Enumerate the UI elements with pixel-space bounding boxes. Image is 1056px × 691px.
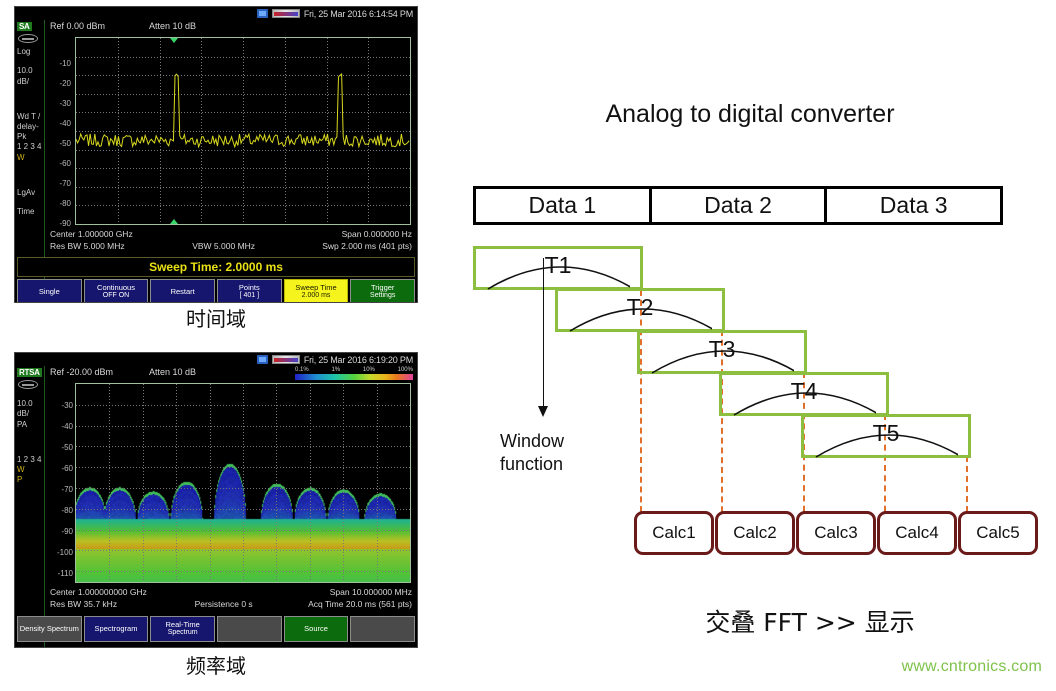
side-rail-freq: RTSA 10.0 dB/ PA 1 2 3 4 W P [15, 366, 45, 647]
sweep-readout: Swp 2.000 ms (401 pts) [322, 241, 412, 251]
y-axis-time: -10 -20 -30 -40 -50 -60 -70 -80 -90 [49, 35, 73, 225]
data-block: Data 1 [476, 189, 652, 222]
data-block: Data 2 [652, 189, 828, 222]
spectrum-analyzer-frequency-domain: Fri, 25 Mar 2016 6:19:20 PM RTSA 10.0 dB… [14, 352, 418, 648]
window-label-t4: T4 [791, 378, 818, 405]
softkey-label: Density Spectrum [20, 624, 79, 633]
rail-scale-value: 10.0 [17, 399, 42, 408]
y-tick: -50 [49, 139, 71, 148]
y-axis-freq: -30 -40 -50 -60 -70 -80 -90 -100 -110 [49, 381, 75, 577]
softkey-trigger-settings[interactable]: Trigger Settings [350, 279, 415, 303]
softkey-bar-time: Single Continuous OFF ON Restart Points … [17, 279, 415, 303]
footer-readouts-time: Center 1.000000 GHz Span 0.000000 Hz Res… [47, 229, 415, 253]
y-tick: -40 [49, 422, 73, 431]
footer-readouts-freq: Center 1.000000000 GHz Span 10.000000 MH… [47, 587, 415, 611]
softkey-label: Points [239, 283, 260, 292]
softkey-sweep-time[interactable]: Sweep Time 2.000 ms [284, 279, 349, 303]
softkey-label: Continuous [97, 283, 135, 292]
status-datetime: Fri, 25 Mar 2016 6:14:54 PM [304, 9, 413, 19]
softkey-sublabel: Spectrum [168, 629, 198, 638]
softkey-label: Trigger [371, 283, 394, 292]
data-blocks-strip: Data 1 Data 2 Data 3 [473, 186, 1003, 225]
rail-w: W [17, 465, 42, 474]
window-box-t4: T4 [719, 372, 889, 416]
y-tick: -70 [49, 485, 73, 494]
softkey-restart[interactable]: Restart [150, 279, 215, 303]
window-function-label: Window function [500, 430, 630, 475]
y-tick: -30 [49, 99, 71, 108]
mode-badge-rtsa[interactable]: RTSA [17, 368, 42, 377]
center-freq-readout: Center 1.000000000 GHz [50, 587, 147, 597]
antenna-icon [18, 34, 38, 43]
span-readout: Span 0.000000 Hz [342, 229, 412, 239]
y-tick: -40 [49, 119, 71, 128]
data-block: Data 3 [827, 189, 1000, 222]
network-icon [257, 355, 268, 364]
rail-pa: PA [17, 420, 42, 429]
window-function-line1: Window [500, 430, 630, 453]
y-tick: -90 [49, 219, 71, 228]
y-tick: -60 [49, 159, 71, 168]
softkey-label: Spectrogram [95, 624, 138, 633]
softkey-source[interactable]: Source [284, 616, 349, 642]
y-tick: -10 [49, 59, 71, 68]
softkey-bar-freq: Density Spectrum Spectrogram Real-Time S… [17, 616, 415, 642]
y-tick: -60 [49, 464, 73, 473]
softkey-label: Sweep Time [295, 283, 336, 292]
density-color-scale: 0.1% 1% 10% 100% [295, 367, 413, 380]
fft-caption: 交叠 FFT >> 显示 [600, 603, 1020, 639]
signal-indicator-icon [272, 9, 300, 18]
softkey-blank-2[interactable] [350, 616, 415, 642]
rail-traces: 1 2 3 4 [17, 142, 42, 151]
acq-time-readout: Acq Time 20.0 ms (561 pts) [308, 599, 412, 609]
softkey-real-time-spectrum[interactable]: Real-Time Spectrum [150, 616, 215, 642]
calc-block: Calc1 [634, 511, 714, 555]
sweep-time-banner: Sweep Time: 2.0000 ms [17, 257, 415, 277]
softkey-single[interactable]: Single [17, 279, 82, 303]
softkey-spectrogram[interactable]: Spectrogram [84, 616, 149, 642]
rail-lgav: LgAv [17, 188, 42, 197]
rail-time: Time [17, 207, 42, 216]
softkey-sublabel: OFF ON [103, 292, 129, 301]
window-label-t2: T2 [627, 294, 654, 321]
softkey-sublabel: 2.000 ms [302, 292, 331, 301]
plot-area-density-spectrum[interactable] [75, 383, 411, 583]
calc-block: Calc3 [796, 511, 876, 555]
window-box-t5: T5 [801, 414, 971, 458]
signal-indicator-icon [272, 355, 300, 364]
softkey-label: Source [304, 624, 328, 633]
header-readouts-time: Ref 0.00 dBm Atten 10 dB [47, 20, 415, 34]
rail-scale-value: 10.0 [17, 66, 42, 75]
site-watermark: www.cntronics.com [902, 658, 1042, 676]
overlapping-fft-diagram: Analog to digital converter Data 1 Data … [440, 0, 1056, 691]
mode-badge-sa[interactable]: SA [17, 22, 32, 31]
softkey-label: Restart [171, 287, 195, 296]
y-tick: -30 [49, 401, 73, 410]
calc-block: Calc4 [877, 511, 957, 555]
network-icon [257, 9, 268, 18]
y-tick: -70 [49, 179, 71, 188]
atten-readout: Atten 10 dB [149, 21, 196, 31]
y-tick: -90 [49, 527, 73, 536]
cscale-tick: 100% [398, 367, 413, 373]
rail-delay: delay- [17, 122, 42, 131]
ref-level-readout: Ref -20.00 dBm [50, 367, 113, 377]
arrow-shaft [543, 258, 544, 412]
window-label-t1: T1 [545, 252, 572, 279]
center-freq-readout: Center 1.000000 GHz [50, 229, 133, 239]
window-label-t3: T3 [709, 336, 736, 363]
cscale-tick: 1% [331, 367, 340, 373]
rail-log: Log [17, 47, 42, 56]
arrow-head-icon [538, 406, 548, 417]
y-tick: -100 [49, 548, 73, 557]
status-bar-freq: Fri, 25 Mar 2016 6:19:20 PM [15, 353, 417, 366]
y-tick: -20 [49, 79, 71, 88]
softkey-density-spectrum[interactable]: Density Spectrum [17, 616, 82, 642]
softkey-sublabel: Settings [370, 292, 395, 301]
trace-zero-span [76, 38, 410, 224]
y-tick: -110 [49, 569, 73, 578]
softkey-label: Single [39, 287, 60, 296]
caption-time-domain: 时间域 [14, 303, 418, 332]
calc-block: Calc5 [958, 511, 1038, 555]
window-box-t2: T2 [555, 288, 725, 332]
calc-block: Calc2 [715, 511, 795, 555]
calc-blocks-strip: Calc1 Calc2 Calc3 Calc4 Calc5 [634, 511, 1038, 555]
window-label-t5: T5 [873, 420, 900, 447]
rail-wdt: Wd T / [17, 112, 42, 121]
softkey-blank-1[interactable] [217, 616, 282, 642]
softkey-sublabel: [ 401 ] [240, 292, 259, 301]
status-datetime: Fri, 25 Mar 2016 6:19:20 PM [304, 355, 413, 365]
window-box-t3: T3 [637, 330, 807, 374]
atten-readout: Atten 10 dB [149, 367, 196, 377]
cscale-tick: 10% [363, 367, 375, 373]
status-bar-time: Fri, 25 Mar 2016 6:14:54 PM [15, 7, 417, 20]
persistence-readout: Persistence 0 s [195, 599, 253, 609]
rail-pk: Pk [17, 132, 42, 141]
y-tick: -80 [49, 506, 73, 515]
rail-traces: 1 2 3 4 [17, 455, 42, 464]
cscale-tick: 0.1% [295, 367, 309, 373]
softkey-continuous[interactable]: Continuous OFF ON [84, 279, 149, 303]
rail-scale-unit: dB/ [17, 409, 42, 418]
rail-scale-unit: dB/ [17, 77, 42, 86]
plot-area-time-domain[interactable] [75, 37, 411, 225]
rail-p: P [17, 475, 42, 484]
cscale-gradient [295, 374, 413, 380]
softkey-label: Real-Time [166, 620, 200, 629]
y-tick: -50 [49, 443, 73, 452]
window-box-t1: T1 [473, 246, 643, 290]
caption-frequency-domain: 频率域 [14, 650, 418, 679]
span-readout: Span 10.000000 MHz [330, 587, 412, 597]
softkey-points[interactable]: Points [ 401 ] [217, 279, 282, 303]
adc-title: Analog to digital converter [500, 100, 1000, 129]
ref-level-readout: Ref 0.00 dBm [50, 21, 105, 31]
resbw-readout: Res BW 5.000 MHz [50, 241, 125, 251]
window-function-line2: function [500, 453, 630, 476]
vbw-readout: VBW 5.000 MHz [192, 241, 255, 251]
antenna-icon [18, 380, 38, 389]
spectrum-analyzer-time-domain: Fri, 25 Mar 2016 6:14:54 PM SA Log 10.0 … [14, 6, 418, 303]
resbw-readout: Res BW 35.7 kHz [50, 599, 117, 609]
y-tick: -80 [49, 199, 71, 208]
rail-w: W [17, 153, 42, 162]
